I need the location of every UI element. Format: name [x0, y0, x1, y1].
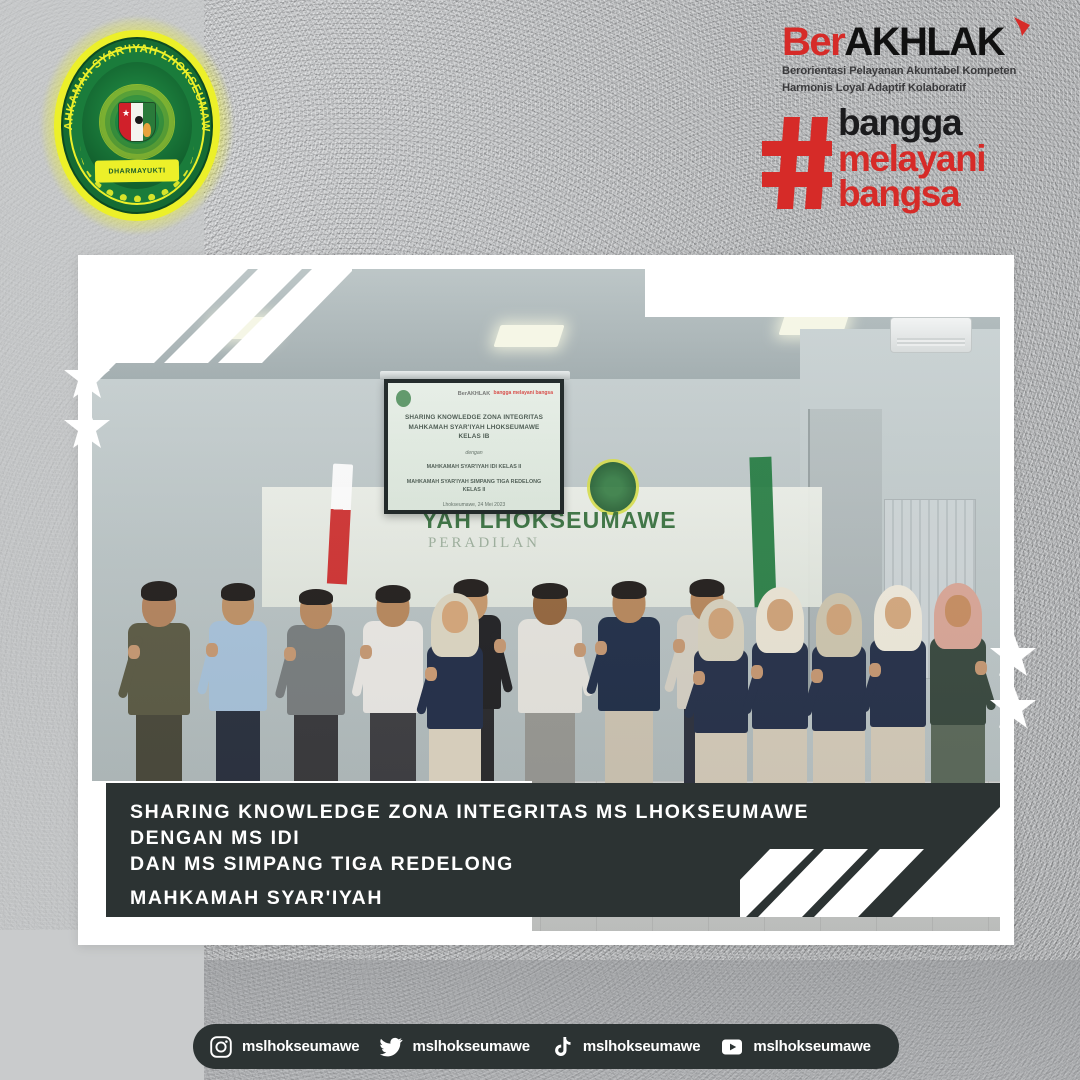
slide-place-date: Lhokseumawe, 24 Mei 2023 [398, 502, 550, 508]
star-icon [988, 682, 1038, 732]
corner-stripes-bottom-right [740, 807, 1000, 917]
photo-frame: YAH LHOKSEUMAWE PERADILAN BerAKHLAK bang… [78, 255, 1014, 945]
slide-title-1: SHARING KNOWLEDGE ZONA INTEGRITAS [398, 413, 550, 423]
tiktok-icon[interactable] [550, 1035, 574, 1059]
star-icon [988, 630, 1038, 680]
berakhlak-title-prefix: Ber [782, 20, 844, 64]
caption-box: SHARING KNOWLEDGE ZONA INTEGRITAS MS LHO… [106, 783, 1000, 917]
youtube-handle[interactable]: mslhokseumawe [753, 1038, 870, 1055]
berakhlak-tagline-2: Harmonis Loyal Adaptif Kolaboratif [782, 81, 1022, 96]
youtube-icon[interactable] [720, 1035, 744, 1059]
person-face [442, 601, 468, 633]
twitter-handle[interactable]: mslhokseumawe [412, 1038, 529, 1055]
slide-court-logo-icon [396, 390, 411, 407]
tiktok-handle[interactable]: mslhokseumawe [583, 1038, 700, 1055]
instagram-icon[interactable] [209, 1035, 233, 1059]
berakhlak-title-suffix: AKHLAK [844, 20, 1004, 64]
social-link-youtube[interactable]: mslhokseumawe [720, 1035, 870, 1059]
logo-banner: DHARMAYUKTI [95, 159, 179, 182]
person-hand [425, 667, 437, 681]
ac-vent [897, 338, 965, 346]
social-link-instagram[interactable]: mslhokseumawe [209, 1035, 359, 1059]
twitter-icon[interactable] [379, 1035, 403, 1059]
slide-bangga-logo-label: bangga melayani bangsa [494, 391, 553, 397]
slide-partner-1: MAHKAMAH SYAR'IYAH IDI KELAS II [398, 463, 550, 471]
ceiling-light [208, 317, 279, 339]
caption-subline-1: MAHKAMAH SYAR'IYAH [130, 885, 820, 911]
poster-canvas: ★ MAHKAMAH SYAR'IYAH LHOKSEUMAWE DHARMAY… [0, 0, 1080, 1080]
bangga-line-3: bangsa [838, 176, 985, 212]
shield-star-icon: ★ [122, 108, 130, 119]
social-media-bar: mslhokseumawe mslhokseumawe mslhokseumaw… [193, 1024, 899, 1069]
slide-brand-label: BerAKHLAK [458, 391, 490, 397]
slide-body: SHARING KNOWLEDGE ZONA INTEGRITAS MAHKAM… [398, 413, 550, 508]
caption-subline-2: LHOKSEUMAWE KELAS IB [130, 912, 820, 918]
shield-dot [135, 116, 143, 124]
star-icon [62, 352, 112, 402]
caption-area: SHARING KNOWLEDGE ZONA INTEGRITAS MS LHO… [92, 769, 1000, 931]
person-torso [427, 645, 483, 729]
website-url: MS-LHOKSEUMAWE.GO.ID [683, 276, 974, 297]
court-logo: ★ MAHKAMAH SYAR'IYAH LHOKSEUMAWE DHARMAY… [42, 18, 232, 233]
website-url-label: MS-LHOKSEUMAWE.GO.ID [683, 276, 974, 296]
caption-text: SHARING KNOWLEDGE ZONA INTEGRITAS MS LHO… [130, 799, 820, 917]
slide-partner-2: MAHKAMAH SYAR'IYAH SIMPANG TIGA REDELONG… [398, 478, 550, 494]
logo-banner-label: DHARMAYUKTI [108, 167, 165, 175]
bangga-line-1: bangga [838, 105, 985, 141]
shield-rice [143, 123, 151, 137]
event-photograph: YAH LHOKSEUMAWE PERADILAN BerAKHLAK bang… [92, 269, 1000, 931]
slide-title-2: MAHKAMAH SYAR'IYAH LHOKSEUMAWE [398, 423, 550, 433]
slide-title-3: KELAS IB [398, 432, 550, 442]
bangga-line-2: melayani [838, 141, 985, 177]
social-link-twitter[interactable]: mslhokseumawe [379, 1035, 529, 1059]
projector-screen: BerAKHLAK bangga melayani bangsa SHARING… [384, 379, 564, 514]
berakhlak-tagline-1: Berorientasi Pelayanan Akuntabel Kompete… [782, 64, 1022, 79]
berakhlak-logo: BerAKHLAK Berorientasi Pelayanan Akuntab… [782, 22, 1022, 96]
slide-connector: dengan [398, 450, 550, 456]
hashtag-icon [762, 117, 834, 209]
social-link-tiktok[interactable]: mslhokseumawe [550, 1035, 700, 1059]
ceiling-light [493, 325, 564, 347]
chevron-up-right-icon [1010, 14, 1036, 40]
berakhlak-title: BerAKHLAK [782, 22, 1022, 62]
bangga-text-block: bangga melayani bangsa [838, 105, 985, 212]
background-left-panel-lower [0, 930, 204, 1080]
caption-headline-2: DAN MS SIMPANG TIGA REDELONG [130, 851, 820, 877]
bangga-melayani-bangsa-logo: bangga melayani bangsa [762, 105, 1030, 223]
logo-shield-icon: ★ [118, 102, 156, 142]
caption-headline-1: SHARING KNOWLEDGE ZONA INTEGRITAS MS LHO… [130, 799, 820, 851]
instagram-handle[interactable]: mslhokseumawe [242, 1038, 359, 1055]
star-icon [62, 402, 112, 452]
air-conditioner [890, 317, 972, 353]
projector-slide: BerAKHLAK bangga melayani bangsa SHARING… [388, 383, 560, 510]
